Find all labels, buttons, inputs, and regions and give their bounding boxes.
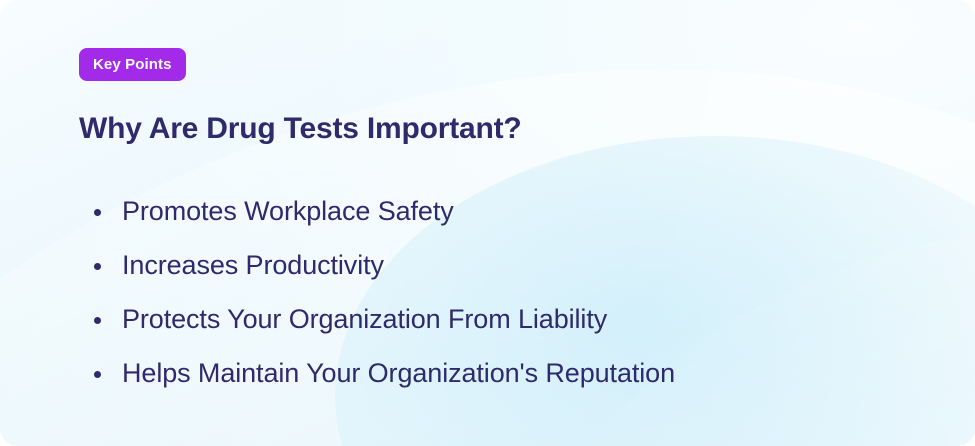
card-content: Key Points Why Are Drug Tests Important?… (79, 0, 975, 446)
key-points-list: Promotes Workplace Safety Increases Prod… (79, 185, 675, 401)
key-points-card: Key Points Why Are Drug Tests Important?… (0, 0, 975, 446)
bullet-icon (94, 317, 101, 324)
status-badge: Key Points (79, 48, 186, 81)
list-item-label: Promotes Workplace Safety (122, 197, 454, 227)
list-item-label: Protects Your Organization From Liabilit… (122, 305, 607, 335)
list-item: Protects Your Organization From Liabilit… (79, 293, 675, 347)
bullet-icon (94, 263, 101, 270)
list-item: Helps Maintain Your Organization's Reput… (79, 347, 675, 401)
list-item-label: Helps Maintain Your Organization's Reput… (122, 359, 675, 389)
page-title: Why Are Drug Tests Important? (79, 112, 522, 146)
list-item: Promotes Workplace Safety (79, 185, 675, 239)
bullet-icon (94, 371, 101, 378)
bullet-icon (94, 209, 101, 216)
list-item: Increases Productivity (79, 239, 675, 293)
list-item-label: Increases Productivity (122, 251, 384, 281)
